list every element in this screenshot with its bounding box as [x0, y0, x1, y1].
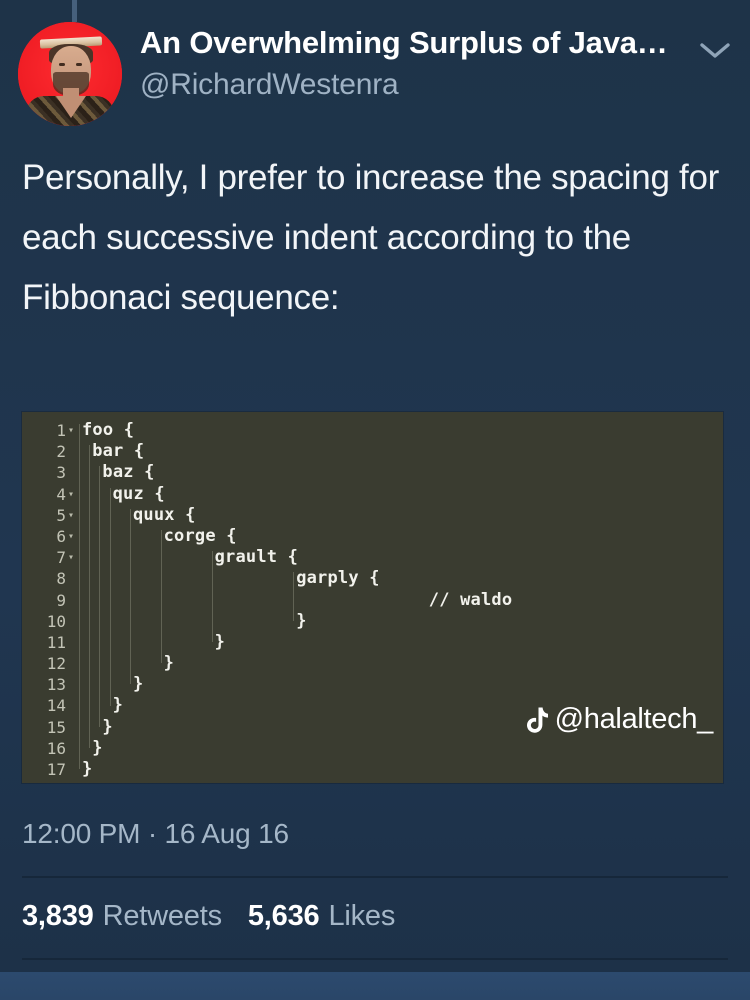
- code-line-text: quz {: [113, 484, 165, 505]
- code-line-number: 4: [32, 484, 66, 505]
- code-line: 1▾foo {: [22, 420, 723, 441]
- code-line-text: corge {: [164, 526, 237, 547]
- code-line-number: 6: [32, 526, 66, 547]
- retweets-label[interactable]: Retweets: [103, 900, 222, 933]
- tweet-header: An Overwhelming Surplus of Java… @Richar…: [0, 0, 750, 140]
- avatar-hanger-line: [72, 0, 77, 22]
- code-line-number: 2: [32, 441, 66, 462]
- code-line: 17}: [22, 759, 723, 780]
- tiktok-watermark-handle: @halaltech_: [555, 703, 713, 736]
- likes-count[interactable]: 5,636: [248, 900, 320, 933]
- code-line-number: 3: [32, 462, 66, 483]
- code-line-text: }: [133, 674, 143, 695]
- code-line-text: }: [164, 653, 174, 674]
- divider-below-stats: [22, 958, 728, 960]
- code-fold-arrow-icon[interactable]: ▾: [68, 526, 78, 547]
- code-line-text: }: [296, 611, 306, 632]
- author-handle[interactable]: @RichardWestenra: [140, 65, 700, 104]
- code-line: 16}: [22, 738, 723, 759]
- code-fold-arrow-icon[interactable]: ▾: [68, 420, 78, 441]
- avatar-eye-left: [59, 63, 65, 66]
- code-screenshot-image[interactable]: 1▾foo {2bar {3baz {4▾quz {5▾quux {6▾corg…: [22, 412, 723, 783]
- tiktok-watermark: @halaltech_: [523, 703, 713, 736]
- tweet-body-text: Personally, I prefer to increase the spa…: [22, 148, 732, 328]
- code-line-number: 7: [32, 547, 66, 568]
- tweet-options-button[interactable]: [698, 34, 732, 68]
- code-line-text: garply {: [296, 568, 379, 589]
- code-line-text: }: [102, 717, 112, 738]
- code-line-number: 14: [32, 695, 66, 716]
- author-display-name[interactable]: An Overwhelming Surplus of Java…: [140, 24, 700, 61]
- code-line: 9// waldo: [22, 590, 723, 611]
- code-line: 11}: [22, 632, 723, 653]
- code-fold-arrow-icon[interactable]: ▾: [68, 505, 78, 526]
- code-line: 13}: [22, 674, 723, 695]
- code-line: 2bar {: [22, 441, 723, 462]
- code-line-number: 17: [32, 759, 66, 780]
- tweet-stats: 3,839 Retweets 5,636 Likes: [22, 900, 421, 933]
- code-line-number: 5: [32, 505, 66, 526]
- code-line-text: // waldo: [429, 590, 512, 611]
- code-line-number: 1: [32, 420, 66, 441]
- code-line-number: 9: [32, 590, 66, 611]
- tiktok-note-icon: [523, 706, 548, 734]
- code-line: 4▾quz {: [22, 484, 723, 505]
- code-fold-arrow-icon[interactable]: ▾: [68, 484, 78, 505]
- code-line-text: }: [113, 695, 123, 716]
- code-line-number: 12: [32, 653, 66, 674]
- tweet-card: An Overwhelming Surplus of Java… @Richar…: [0, 0, 750, 972]
- avatar-eye-right: [76, 63, 82, 66]
- code-line-number: 8: [32, 568, 66, 589]
- code-line-number: 10: [32, 611, 66, 632]
- tweet-timestamp[interactable]: 12:00 PM · 16 Aug 16: [22, 818, 289, 850]
- code-line: 7▾grault {: [22, 547, 723, 568]
- code-line-text: }: [215, 632, 225, 653]
- code-line: 10}: [22, 611, 723, 632]
- code-fold-arrow-icon[interactable]: ▾: [68, 547, 78, 568]
- bottom-strip: [0, 972, 750, 1000]
- code-line: 3baz {: [22, 462, 723, 483]
- code-line-text: grault {: [215, 547, 298, 568]
- code-line: 8garply {: [22, 568, 723, 589]
- code-line-number: 13: [32, 674, 66, 695]
- code-line-text: baz {: [102, 462, 154, 483]
- author-name-block: An Overwhelming Surplus of Java… @Richar…: [140, 24, 700, 104]
- code-line: 6▾corge {: [22, 526, 723, 547]
- code-line-text: bar {: [92, 441, 144, 462]
- code-line-number: 15: [32, 717, 66, 738]
- likes-label[interactable]: Likes: [328, 900, 395, 933]
- code-line-number: 11: [32, 632, 66, 653]
- code-line-text: }: [92, 738, 102, 759]
- code-line: 5▾quux {: [22, 505, 723, 526]
- avatar[interactable]: [18, 22, 122, 126]
- code-line: 12}: [22, 653, 723, 674]
- code-line-text: foo {: [82, 420, 134, 441]
- chevron-down-icon: [700, 42, 730, 60]
- divider-above-stats: [22, 876, 728, 878]
- code-line-text: quux {: [133, 505, 196, 526]
- retweets-count[interactable]: 3,839: [22, 900, 94, 933]
- code-line-number: 16: [32, 738, 66, 759]
- code-line-text: }: [82, 759, 92, 780]
